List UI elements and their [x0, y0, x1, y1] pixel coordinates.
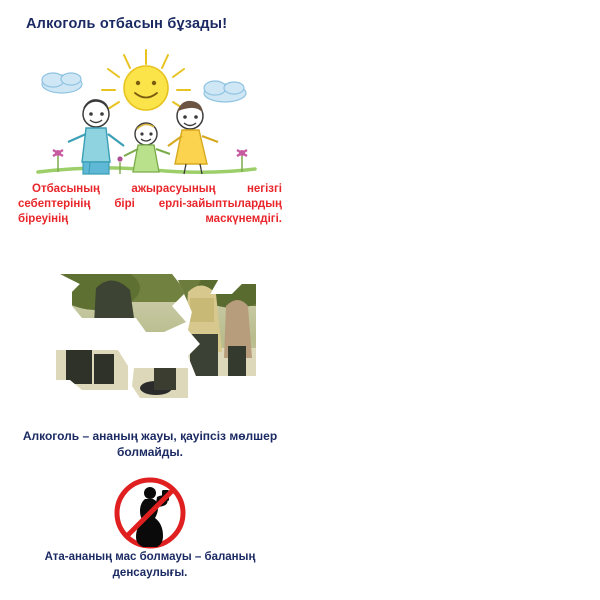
poster-root: Алкоголь отбасын бұзады!: [0, 0, 600, 600]
family-crayon-drawing: [20, 46, 272, 180]
fragmented-family-photo: [38, 262, 268, 412]
divorce-cause-paragraph: Отбасының ажырасуының негізгі себептерін…: [18, 182, 282, 243]
left-column: Алкоголь отбасын бұзады!: [0, 0, 300, 600]
no-alcohol-pregnancy-sign: [104, 473, 196, 553]
mother-caption: Алкоголь – ананың жауы, қауіпсіз мөлшер …: [18, 428, 282, 460]
right-column: Алкоголь – денсаулықты құртады! Алкоголь…: [300, 0, 600, 600]
parents-caption: Ата-ананың мас болмауы – баланың денсаул…: [18, 550, 282, 581]
page-title: Алкоголь отбасын бұзады!: [26, 16, 276, 32]
